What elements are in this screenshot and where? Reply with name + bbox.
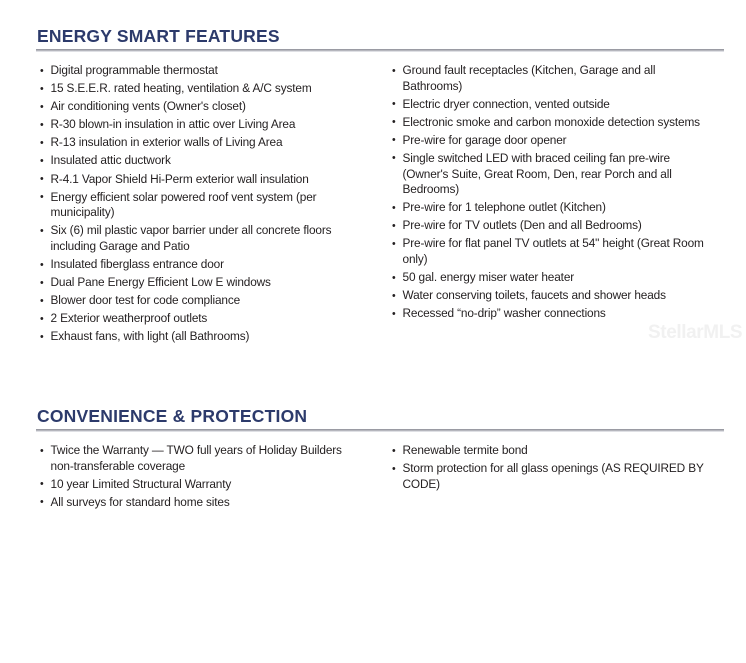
feature-list-item: 15 S.E.E.R. rated heating, ventilation &… [40,81,355,97]
feature-list-item: 10 year Limited Structural Warranty [40,477,355,493]
feature-list-item: Insulated attic ductwork [40,153,355,169]
feature-list-item: Storm protection for all glass openings … [392,461,713,492]
feature-list-item: R-4.1 Vapor Shield Hi-Perm exterior wall… [40,172,355,188]
feature-list-convenience-left: Twice the Warranty — TWO full years of H… [40,443,370,510]
feature-list-item: Energy efficient solar powered roof vent… [40,190,355,221]
stellarmls-watermark: StellarMLS [648,322,742,344]
section-convenience-protection: CONVENIENCE & PROTECTION Twice the Warra… [36,406,724,443]
feature-list-item: Digital programmable thermostat [40,63,355,79]
feature-column-right: Renewable termite bondStorm protection f… [392,443,728,495]
feature-list-item: Pre-wire for flat panel TV outlets at 54… [392,236,713,267]
feature-list-item: Blower door test for code compliance [40,293,355,309]
feature-list-convenience-right: Renewable termite bondStorm protection f… [392,443,728,492]
feature-column-left: Digital programmable thermostat15 S.E.E.… [40,63,370,348]
feature-list-item: Twice the Warranty — TWO full years of H… [40,443,355,474]
feature-list-item: Recessed “no-drip” washer connections [392,306,713,322]
document-page: ENERGY SMART FEATURES Digital programmab… [0,0,746,663]
feature-list-item: Six (6) mil plastic vapor barrier under … [40,223,355,254]
feature-list-item: Pre-wire for garage door opener [392,133,713,149]
feature-list-energy-left: Digital programmable thermostat15 S.E.E.… [40,63,370,345]
feature-list-item: Pre-wire for TV outlets (Den and all Bed… [392,218,713,234]
feature-list-item: Dual Pane Energy Efficient Low E windows [40,275,355,291]
section-heading-energy-smart-features: ENERGY SMART FEATURES [36,26,724,49]
section-energy-smart-features: ENERGY SMART FEATURES Digital programmab… [36,26,724,63]
feature-list-item: 2 Exterior weatherproof outlets [40,311,355,327]
feature-list-item: Ground fault receptacles (Kitchen, Garag… [392,63,713,94]
feature-list-item: Single switched LED with braced ceiling … [392,151,713,198]
feature-list-item: Pre-wire for 1 telephone outlet (Kitchen… [392,200,713,216]
section-divider-rule [36,429,724,432]
feature-list-item: Air conditioning vents (Owner's closet) [40,99,355,115]
feature-list-item: R-13 insulation in exterior walls of Liv… [40,135,355,151]
feature-list-item: Renewable termite bond [392,443,713,459]
feature-column-left: Twice the Warranty — TWO full years of H… [40,443,370,513]
feature-list-item: Exhaust fans, with light (all Bathrooms) [40,329,355,345]
feature-list-item: All surveys for standard home sites [40,495,355,511]
feature-list-energy-right: Ground fault receptacles (Kitchen, Garag… [392,63,728,322]
section-heading-convenience-protection: CONVENIENCE & PROTECTION [36,406,724,429]
feature-list-item: Electronic smoke and carbon monoxide det… [392,115,713,131]
feature-list-item: 50 gal. energy miser water heater [392,270,713,286]
feature-list-item: R-30 blown-in insulation in attic over L… [40,117,355,133]
feature-list-item: Insulated fiberglass entrance door [40,257,355,273]
feature-list-item: Water conserving toilets, faucets and sh… [392,288,713,304]
feature-column-right: Ground fault receptacles (Kitchen, Garag… [392,63,728,324]
feature-list-item: Electric dryer connection, vented outsid… [392,97,713,113]
section-divider-rule [36,49,724,52]
